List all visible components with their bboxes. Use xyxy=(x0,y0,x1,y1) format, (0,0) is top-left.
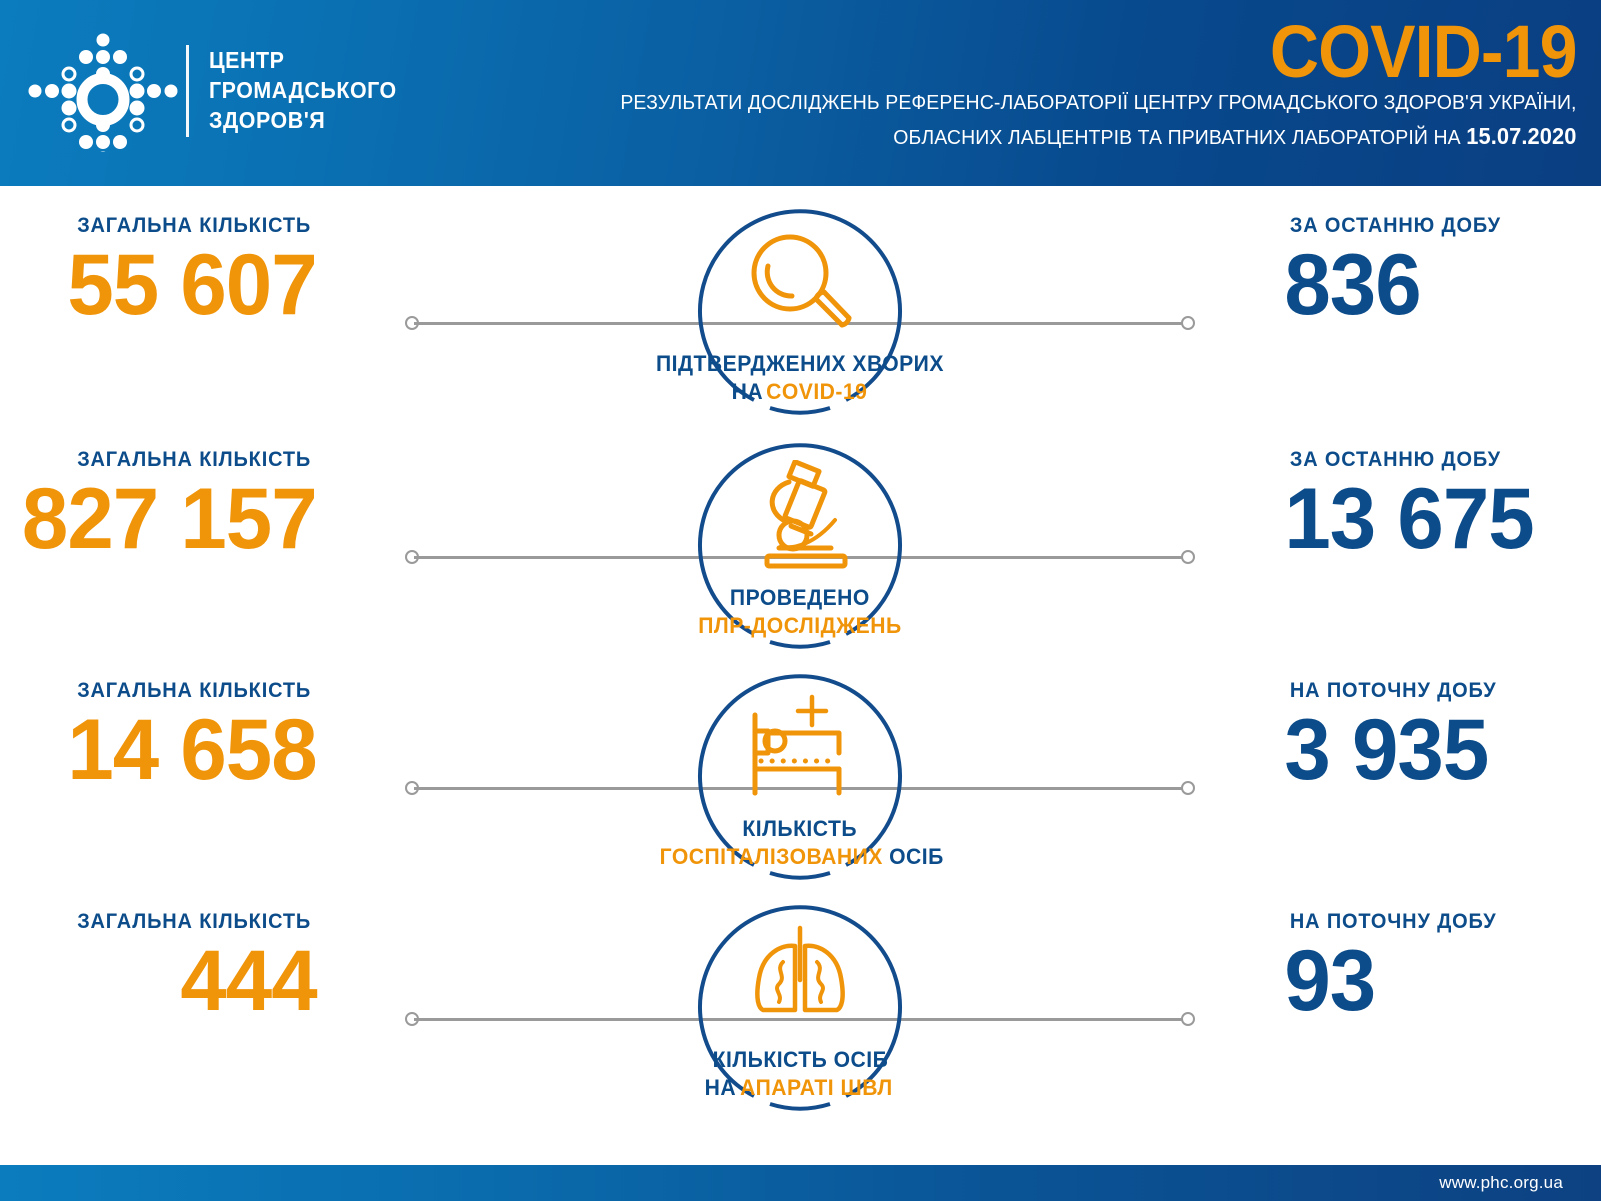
magnifier-icon-svg xyxy=(735,226,865,344)
stat-left-label: ЗАГАЛЬНА КІЛЬКІСТЬ xyxy=(0,214,370,238)
stat-right-daily: ЗА ОСТАННЮ ДОБУ 836 xyxy=(1231,214,1601,330)
org-line-2: ГРОМАДСЬКОГО xyxy=(209,76,397,106)
stat-left-label: ЗАГАЛЬНА КІЛЬКІСТЬ xyxy=(0,910,370,934)
stat-row-confirmed-cases: ЗАГАЛЬНА КІЛЬКІСТЬ 55 607 ЗА ОСТАННЮ ДОБ… xyxy=(0,192,1601,432)
stat-left-value: 444 xyxy=(0,938,370,1026)
org-line-1: ЦЕНТР xyxy=(209,46,397,76)
medallion-caption: КІЛЬКІСТЬ ОСІБ НА АПАРАТІ ШВЛ xyxy=(540,1046,1060,1101)
stat-left-value: 827 157 xyxy=(0,476,370,564)
caption-line-2-highlight: ПЛР-ДОСЛІДЖЕНЬ xyxy=(698,612,901,640)
page-title: COVID-19 xyxy=(651,16,1577,87)
stat-left-total: ЗАГАЛЬНА КІЛЬКІСТЬ 444 xyxy=(0,910,370,1026)
stat-left-value: 55 607 xyxy=(0,242,370,330)
stat-left-label: ЗАГАЛЬНА КІЛЬКІСТЬ xyxy=(0,448,370,472)
website-url[interactable]: www.phc.org.ua xyxy=(1439,1173,1563,1193)
stat-left-total: ЗАГАЛЬНА КІЛЬКІСТЬ 55 607 xyxy=(0,214,370,330)
caption-line-2-highlight: COVID-19 xyxy=(766,378,867,406)
page-header: ЦЕНТР ГРОМАДСЬКОГО ЗДОРОВ'Я COVID-19 РЕЗ… xyxy=(0,0,1601,186)
caption-line-1: КІЛЬКІСТЬ xyxy=(743,815,858,843)
lungs-icon xyxy=(735,922,865,1040)
caption-line-1: ПРОВЕДЕНО xyxy=(730,584,870,612)
stat-right-value: 13 675 xyxy=(1231,476,1601,564)
medallion-pcr-tests: ПРОВЕДЕНО ПЛР-ДОСЛІДЖЕНЬ xyxy=(690,434,910,666)
hospital-bed-icon-svg xyxy=(735,691,865,809)
medallion-caption: ПІДТВЕРДЖЕНИХ ХВОРИХ НА COVID-19 xyxy=(540,350,1060,405)
microscope-icon-svg xyxy=(735,460,865,578)
stat-right-label: НА ПОТОЧНУ ДОБУ xyxy=(1231,910,1601,934)
stat-right-value: 93 xyxy=(1231,938,1601,1026)
statistics-rows: ЗАГАЛЬНА КІЛЬКІСТЬ 55 607 ЗА ОСТАННЮ ДОБ… xyxy=(0,186,1601,1155)
stat-right-label: НА ПОТОЧНУ ДОБУ xyxy=(1231,679,1601,703)
logo-divider xyxy=(186,45,189,137)
title-area: COVID-19 РЕЗУЛЬТАТИ ДОСЛІДЖЕНЬ РЕФЕРЕНС-… xyxy=(570,16,1577,154)
subtitle-line-2: ОБЛАСНИХ ЛАБЦЕНТРІВ ТА ПРИВАТНИХ ЛАБОРАТ… xyxy=(621,119,1577,155)
subtitle-line-1: РЕЗУЛЬТАТИ ДОСЛІДЖЕНЬ РЕФЕРЕНС-ЛАБОРАТОР… xyxy=(621,87,1577,119)
caption-line-2-highlight: АПАРАТІ ШВЛ xyxy=(740,1074,893,1102)
stat-right-value: 3 935 xyxy=(1231,707,1601,795)
medallion-hospitalized: КІЛЬКІСТЬ ГОСПІТАЛІЗОВАНИХ ОСІБ xyxy=(690,665,910,897)
connector-dot-right xyxy=(1181,781,1195,795)
caption-line-2-highlight: ГОСПІТАЛІЗОВАНИХ xyxy=(660,843,883,871)
medallion-confirmed-cases: ПІДТВЕРДЖЕНИХ ХВОРИХ НА COVID-19 xyxy=(690,200,910,432)
stat-right-daily: НА ПОТОЧНУ ДОБУ 93 xyxy=(1231,910,1601,1026)
medallion-caption: ПРОВЕДЕНО ПЛР-ДОСЛІДЖЕНЬ xyxy=(540,584,1060,639)
stat-right-daily: НА ПОТОЧНУ ДОБУ 3 935 xyxy=(1231,679,1601,795)
stat-left-total: ЗАГАЛЬНА КІЛЬКІСТЬ 14 658 xyxy=(0,679,370,795)
magnifier-icon xyxy=(735,226,865,344)
stat-right-label: ЗА ОСТАННЮ ДОБУ xyxy=(1231,214,1601,238)
connector-dot-right xyxy=(1181,550,1195,564)
stat-row-ventilator: ЗАГАЛЬНА КІЛЬКІСТЬ 444 НА ПОТОЧНУ ДОБУ 9… xyxy=(0,888,1601,1128)
organization-logo-block: ЦЕНТР ГРОМАДСЬКОГО ЗДОРОВ'Я xyxy=(28,30,411,152)
stat-row-hospitalized: ЗАГАЛЬНА КІЛЬКІСТЬ 14 658 НА ПОТОЧНУ ДОБ… xyxy=(0,657,1601,897)
lungs-icon-svg xyxy=(735,922,865,1040)
stat-row-pcr-tests: ЗАГАЛЬНА КІЛЬКІСТЬ 827 157 ЗА ОСТАННЮ ДО… xyxy=(0,426,1601,666)
stat-right-label: ЗА ОСТАННЮ ДОБУ xyxy=(1231,448,1601,472)
caption-line-2-suffix: ОСІБ xyxy=(889,843,944,871)
caption-line-1: ПІДТВЕРДЖЕНИХ ХВОРИХ xyxy=(656,350,944,378)
connector-dot-right xyxy=(1181,316,1195,330)
connector-dot-right xyxy=(1181,1012,1195,1026)
report-date: 15.07.2020 xyxy=(1467,123,1577,149)
hospital-bed-icon xyxy=(735,691,865,809)
page-footer: www.phc.org.ua xyxy=(0,1165,1601,1201)
stat-right-value: 836 xyxy=(1231,242,1601,330)
subtitle-line-2-text: ОБЛАСНИХ ЛАБЦЕНТРІВ ТА ПРИВАТНИХ ЛАБОРАТ… xyxy=(894,126,1467,149)
stat-right-daily: ЗА ОСТАННЮ ДОБУ 13 675 xyxy=(1231,448,1601,564)
org-line-3: ЗДОРОВ'Я xyxy=(209,106,397,136)
stat-left-total: ЗАГАЛЬНА КІЛЬКІСТЬ 827 157 xyxy=(0,448,370,564)
caption-line-1: КІЛЬКІСТЬ ОСІБ xyxy=(712,1046,888,1074)
caption-line-2-plain: НА xyxy=(732,378,763,406)
stat-left-value: 14 658 xyxy=(0,707,370,795)
caption-line-2-plain: НА xyxy=(705,1074,736,1102)
organization-name: ЦЕНТР ГРОМАДСЬКОГО ЗДОРОВ'Я xyxy=(209,46,397,136)
stat-left-label: ЗАГАЛЬНА КІЛЬКІСТЬ xyxy=(0,679,370,703)
medallion-caption: КІЛЬКІСТЬ ГОСПІТАЛІЗОВАНИХ ОСІБ xyxy=(540,815,1060,870)
phc-dot-diamond-logo-icon xyxy=(28,30,178,152)
medallion-ventilator: КІЛЬКІСТЬ ОСІБ НА АПАРАТІ ШВЛ xyxy=(690,896,910,1128)
microscope-icon xyxy=(735,460,865,578)
